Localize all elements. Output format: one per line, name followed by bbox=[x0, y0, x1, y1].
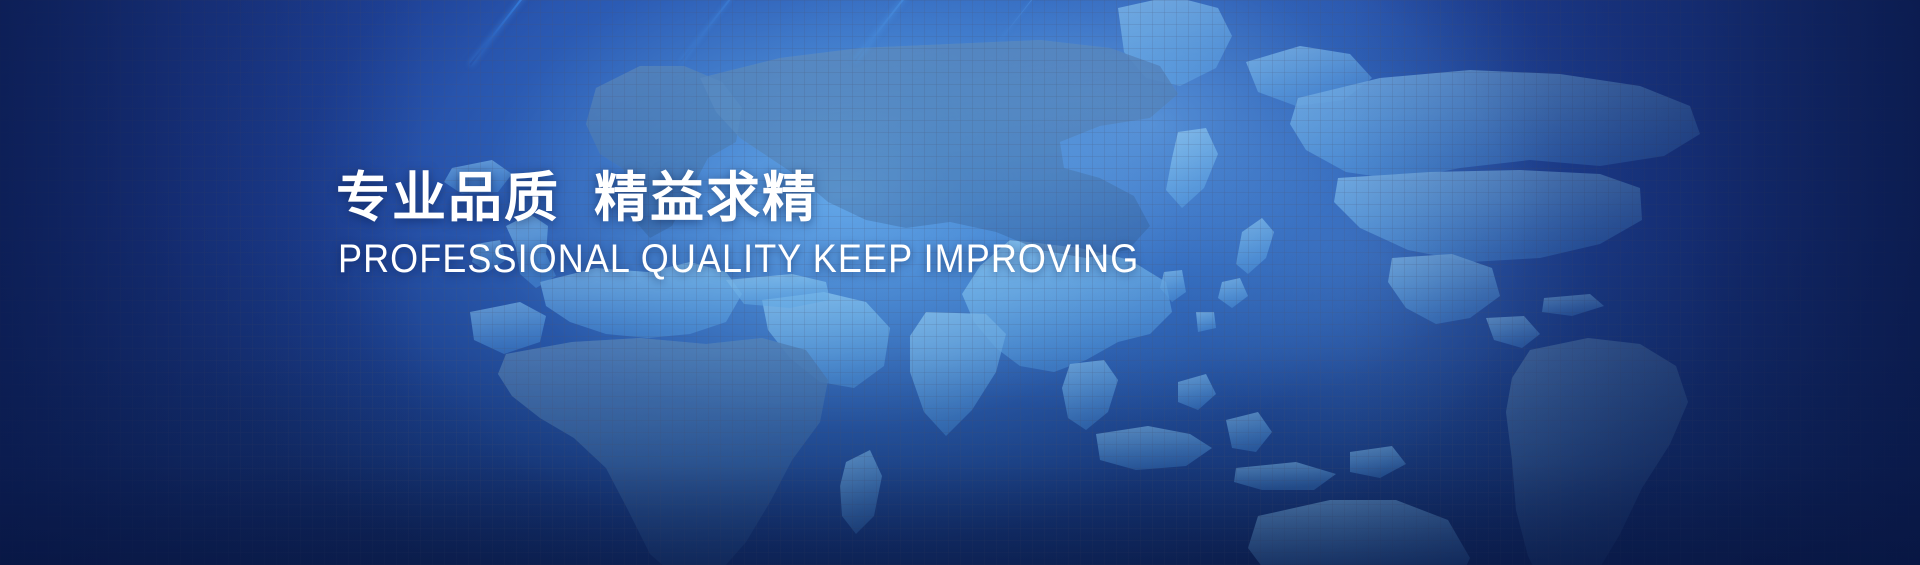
hero-banner: 专业品质精益求精 PROFESSIONAL QUALITY KEEP IMPRO… bbox=[0, 0, 1920, 565]
headline-phrase-2: 精益求精 bbox=[594, 166, 818, 229]
banner-copy-block: 专业品质精益求精 PROFESSIONAL QUALITY KEEP IMPRO… bbox=[336, 168, 1228, 280]
banner-subheadline-english: PROFESSIONAL QUALITY KEEP IMPROVING bbox=[338, 238, 1139, 280]
headline-phrase-1: 专业品质 bbox=[336, 166, 560, 229]
banner-headline-chinese: 专业品质精益求精 bbox=[336, 168, 1228, 228]
world-map-shadow bbox=[0, 0, 1920, 565]
